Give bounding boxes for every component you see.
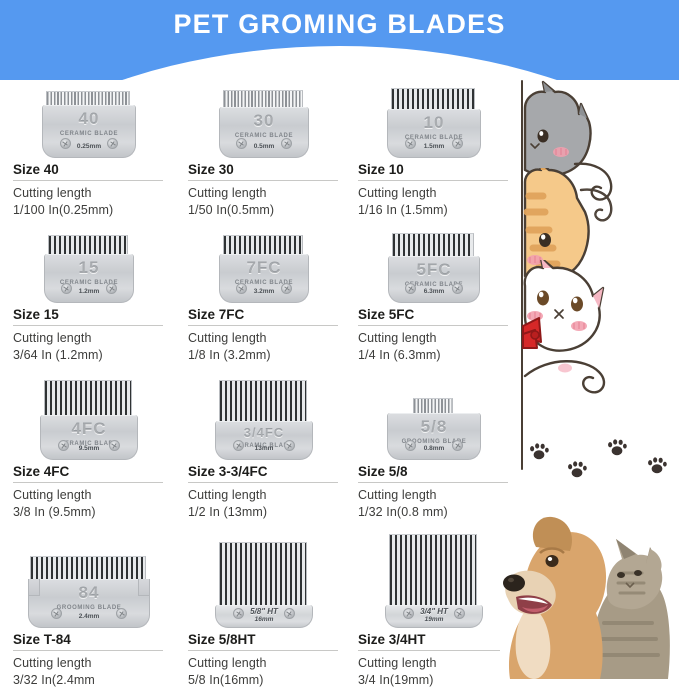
blade-image: 3/4FCCERAMIC BLADE13mm (188, 360, 338, 460)
screw-icon (405, 138, 416, 149)
cutting-length-label: Cutting length (358, 330, 508, 347)
blade-card[interactable]: 40CERAMIC BLADE0.25mmSize 40Cutting leng… (13, 80, 163, 218)
blade-teeth (44, 380, 132, 415)
divider (358, 180, 508, 181)
cutting-length-label: Cutting length (13, 655, 163, 672)
dog-and-cat-photo (500, 503, 679, 679)
blade-card[interactable]: 10CERAMIC BLADE1.5mmSize 10Cutting lengt… (358, 80, 508, 218)
blade-mm-text: 16mm (216, 616, 312, 623)
blade-mm-text: 13mm (216, 445, 312, 452)
blade-number: 7FC (220, 258, 308, 278)
blade-card[interactable]: 3/4" HT19mmSize 3/4HTCutting length3/4 I… (358, 510, 508, 688)
cutting-length-label: Cutting length (188, 185, 338, 202)
blade-brand-text: CERAMIC BLADE (388, 135, 480, 141)
page-header: PET GROMING BLADES (0, 0, 679, 80)
blade-brand-text: CERAMIC BLADE (45, 280, 133, 286)
blade-size-label: Size 5FC (358, 307, 508, 322)
cutting-length-value: 1/16 In (1.5mm) (358, 202, 508, 219)
blade-size-label: Size 40 (13, 162, 163, 177)
blade-number: 84 (29, 583, 149, 603)
blade-size-label: Size 15 (13, 307, 163, 322)
header-curve-decoration (0, 46, 679, 80)
cutting-length-label: Cutting length (13, 185, 163, 202)
blade-size-label: Size T-84 (13, 632, 163, 647)
blade-body: 4FCCERAMIC BLADE9.5mm (40, 415, 138, 460)
blade-body: 3/4FCCERAMIC BLADE13mm (215, 421, 313, 460)
paw-print-icon (646, 455, 668, 477)
paw-prints-group (528, 437, 678, 482)
blade-grid: 40CERAMIC BLADE0.25mmSize 40Cutting leng… (0, 80, 520, 679)
cutting-length-label: Cutting length (188, 330, 338, 347)
blade-mm-text: 1.5mm (388, 143, 480, 150)
screw-icon (454, 608, 465, 619)
blade-body: 84GROOMING BLADE2.4mm (28, 579, 150, 628)
blade-card[interactable]: 4FCCERAMIC BLADE9.5mmSize 4FCCutting len… (13, 360, 163, 520)
blade-image: 7FCCERAMIC BLADE3.2mm (188, 225, 338, 303)
blade-teeth (30, 556, 146, 579)
cutting-length-label: Cutting length (358, 185, 508, 202)
cat-illustration-group (519, 78, 679, 498)
blade-card[interactable]: 7FCCERAMIC BLADE3.2mmSize 7FCCutting len… (188, 225, 338, 363)
blade-mm-text: 1.2mm (45, 288, 133, 295)
blade-image: 10CERAMIC BLADE1.5mm (358, 80, 508, 158)
blade-teeth (223, 90, 303, 107)
screw-icon (236, 138, 247, 149)
cutting-length-label: Cutting length (358, 655, 508, 672)
screw-icon (236, 283, 247, 294)
blade-body: 15CERAMIC BLADE1.2mm (44, 254, 134, 303)
divider (358, 482, 508, 483)
blade-size-label: Size 5/8 (358, 464, 508, 479)
blade-card[interactable]: 5/8GROOMING BLADE0.8mmSize 5/8Cutting le… (358, 360, 508, 520)
blade-number: 40 (43, 109, 135, 129)
blade-brand-text: CERAMIC BLADE (220, 133, 308, 139)
blade-image: 84GROOMING BLADE2.4mm (13, 510, 163, 628)
divider (13, 650, 163, 651)
blade-size-label: Size 5/8HT (188, 632, 338, 647)
blade-image: 5/8" HT16mm (188, 510, 338, 628)
screw-icon (61, 283, 72, 294)
blade-card[interactable]: 3/4FCCERAMIC BLADE13mmSize 3-3/4FCCuttin… (188, 360, 338, 520)
cutting-length-label: Cutting length (358, 487, 508, 504)
blade-size-label: Size 4FC (13, 464, 163, 479)
divider (188, 650, 338, 651)
screw-icon (284, 440, 295, 451)
divider (13, 180, 163, 181)
blade-teeth (389, 534, 477, 605)
paw-print-icon (528, 441, 550, 463)
blade-mm-text: 2.4mm (29, 613, 149, 620)
blade-image: 5FCCERAMIC BLADE6.3mm (358, 225, 508, 303)
divider (358, 325, 508, 326)
blade-image: 30CERAMIC BLADE0.5mm (188, 80, 338, 158)
blade-number: 3/4" HT (386, 607, 482, 616)
blade-body: 5FCCERAMIC BLADE6.3mm (388, 256, 480, 303)
blade-body: 10CERAMIC BLADE1.5mm (387, 109, 481, 158)
blade-size-label: Size 3-3/4FC (188, 464, 338, 479)
blade-card[interactable]: 84GROOMING BLADE2.4mmSize T-84Cutting le… (13, 510, 163, 688)
cutting-length-value: 3/4 In(19mm) (358, 672, 508, 688)
blade-teeth (46, 91, 130, 105)
blade-number: 5/8 (388, 417, 480, 437)
cutting-length-value: 3/32 In(2.4mm (13, 672, 163, 688)
blade-mm-text: 0.5mm (220, 143, 308, 150)
blade-brand-text: CERAMIC BLADE (43, 131, 135, 137)
blade-size-label: Size 7FC (188, 307, 338, 322)
cutting-length-label: Cutting length (13, 330, 163, 347)
blade-body: 5/8GROOMING BLADE0.8mm (387, 413, 481, 460)
cutting-length-label: Cutting length (13, 487, 163, 504)
blade-image: 40CERAMIC BLADE0.25mm (13, 80, 163, 158)
screw-icon (405, 440, 416, 451)
blade-mm-text: 3.2mm (220, 288, 308, 295)
paw-print-icon (606, 437, 628, 459)
divider (188, 180, 338, 181)
divider (188, 325, 338, 326)
blade-size-label: Size 30 (188, 162, 338, 177)
blade-mm-text: 19mm (386, 616, 482, 623)
blade-card[interactable]: 5/8" HT16mmSize 5/8HTCutting length5/8 I… (188, 510, 338, 688)
divider (13, 325, 163, 326)
blade-teeth (392, 233, 474, 256)
blade-number: 30 (220, 111, 308, 131)
blade-mm-text: 0.8mm (388, 445, 480, 452)
blade-image: 3/4" HT19mm (358, 510, 508, 628)
screw-icon (60, 138, 71, 149)
blade-body: 5/8" HT16mm (215, 605, 313, 628)
blade-card[interactable]: 30CERAMIC BLADE0.5mmSize 30Cutting lengt… (188, 80, 338, 218)
divider (13, 482, 163, 483)
paw-print-icon (566, 459, 588, 481)
blade-image: 15CERAMIC BLADE1.2mm (13, 225, 163, 303)
blade-size-label: Size 10 (358, 162, 508, 177)
blade-body: 40CERAMIC BLADE0.25mm (42, 105, 136, 158)
screw-icon (284, 608, 295, 619)
blade-size-label: Size 3/4HT (358, 632, 508, 647)
cutting-length-value: 1/100 In(0.25mm) (13, 202, 163, 219)
blade-image: 4FCCERAMIC BLADE9.5mm (13, 360, 163, 460)
blade-number: 5FC (389, 260, 479, 280)
cutting-length-value: 5/8 In(16mm) (188, 672, 338, 688)
blade-mm-text: 9.5mm (41, 445, 137, 452)
blade-card[interactable]: 5FCCERAMIC BLADE6.3mmSize 5FCCutting len… (358, 225, 508, 363)
blade-teeth (413, 398, 453, 413)
cutting-length-value: 1/50 In(0.5mm) (188, 202, 338, 219)
blade-body: 3/4" HT19mm (385, 605, 483, 628)
cutting-length-label: Cutting length (188, 487, 338, 504)
blade-teeth (219, 542, 307, 605)
blade-mm-text: 0.25mm (43, 143, 135, 150)
blade-teeth (391, 88, 475, 109)
blade-teeth (223, 235, 303, 254)
screw-icon (51, 608, 62, 619)
blade-body: 30CERAMIC BLADE0.5mm (219, 107, 309, 158)
blade-image: 5/8GROOMING BLADE0.8mm (358, 360, 508, 460)
blade-number: 3/4FC (216, 425, 312, 440)
blade-number: 10 (388, 113, 480, 133)
screw-icon (109, 440, 120, 451)
divider (188, 482, 338, 483)
blade-brand-text: CERAMIC BLADE (220, 280, 308, 286)
blade-body: 7FCCERAMIC BLADE3.2mm (219, 254, 309, 303)
blade-number: 5/8" HT (216, 607, 312, 616)
blade-teeth (48, 235, 128, 254)
page-title: PET GROMING BLADES (0, 9, 679, 40)
blade-number: 4FC (41, 419, 137, 439)
blade-mm-text: 6.3mm (389, 288, 479, 295)
blade-number: 15 (45, 258, 133, 278)
blade-brand-text: GROOMING BLADE (29, 605, 149, 611)
blade-teeth (219, 380, 307, 421)
cutting-length-label: Cutting length (188, 655, 338, 672)
divider (358, 650, 508, 651)
blade-card[interactable]: 15CERAMIC BLADE1.2mmSize 15Cutting lengt… (13, 225, 163, 363)
screw-icon (452, 283, 463, 294)
